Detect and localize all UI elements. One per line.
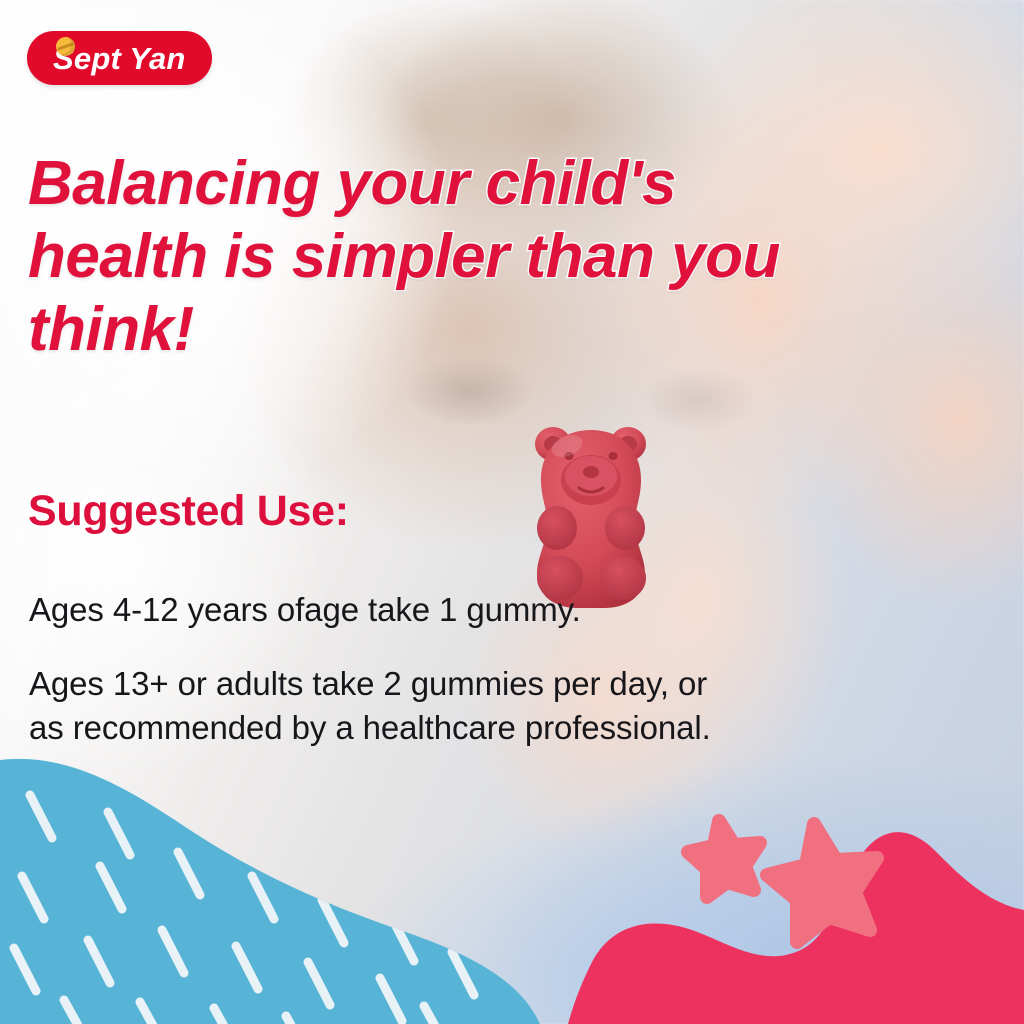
dosage-adults-text: Ages 13+ or adults take 2 gummies per da… [29, 662, 719, 750]
dosage-children-text: Ages 4-12 years ofage take 1 gummy. [29, 588, 719, 632]
gummy-bear-image [527, 418, 655, 613]
brand-logo[interactable]: Sept Yan [27, 31, 212, 85]
page-title: Balancing your child's health is simpler… [28, 147, 788, 366]
promo-graphic: Sept Yan Balancing your child's health i… [0, 0, 1024, 1024]
suggested-use-body: Ages 4-12 years ofage take 1 gummy. Ages… [29, 588, 719, 750]
suggested-use-heading: Suggested Use: [28, 490, 349, 533]
